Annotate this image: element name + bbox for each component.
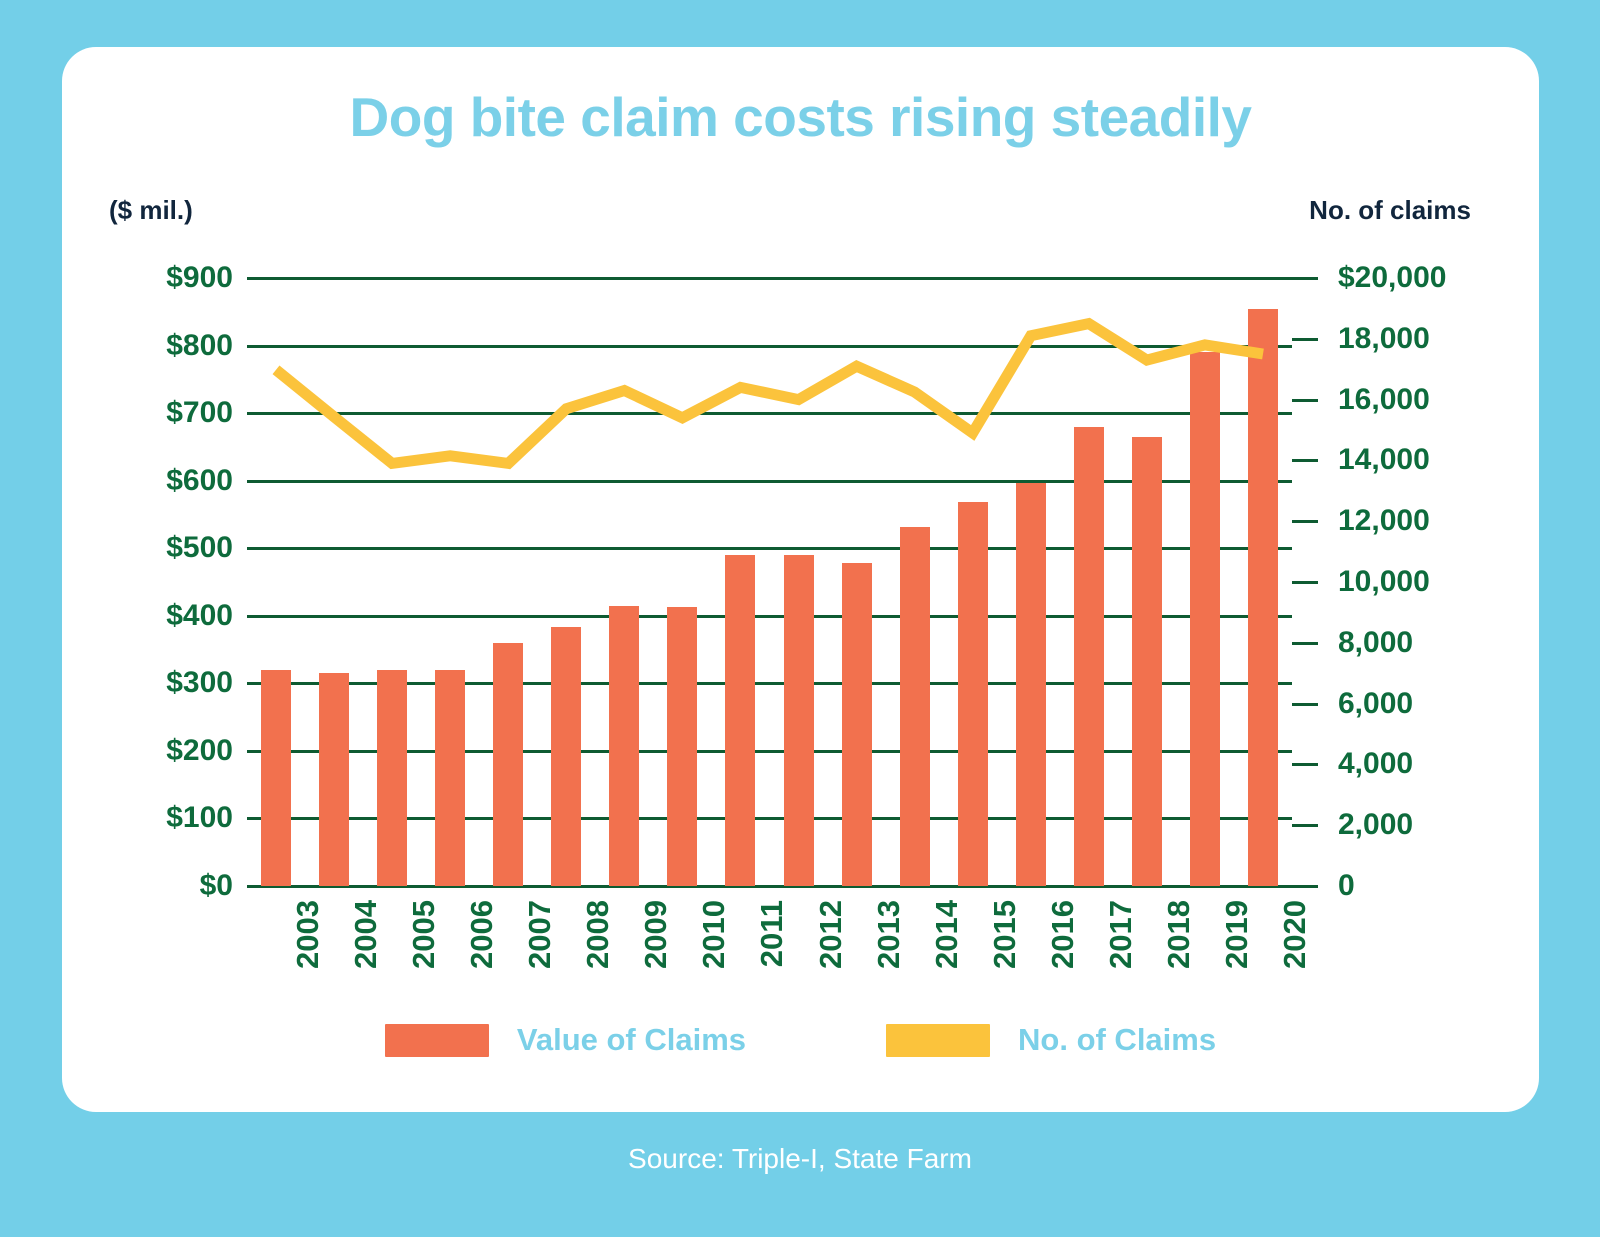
left-axis-caption: ($ mil.) (109, 195, 193, 226)
right-axis-tick-mark (1292, 520, 1318, 523)
x-axis-tick-label: 2011 (754, 900, 790, 967)
left-axis-tick-label: $600 (166, 464, 233, 498)
right-axis-tick-mark (1292, 399, 1318, 402)
right-axis-tick-mark (1292, 763, 1318, 766)
page-title: Dog bite claim costs rising steadily (62, 85, 1539, 149)
x-axis-tick-label: 2018 (1161, 900, 1197, 969)
right-axis-tick-mark (1292, 703, 1318, 706)
x-axis-tick-label: 2005 (406, 900, 442, 969)
right-axis-tick-mark (1292, 277, 1318, 280)
right-axis-tick-label: 6,000 (1338, 687, 1413, 721)
left-axis-tick-label: $800 (166, 329, 233, 363)
bar-swatch-icon (385, 1024, 489, 1057)
legend-label: No. of Claims (1018, 1022, 1216, 1058)
left-axis-tick-label: $0 (200, 869, 233, 903)
right-axis-tick-label: 4,000 (1338, 747, 1413, 781)
left-axis-tick-label: $200 (166, 734, 233, 768)
x-axis-tick-label: 2010 (696, 900, 732, 969)
x-axis-tick-label: 2020 (1277, 900, 1313, 969)
legend-label: Value of Claims (517, 1022, 746, 1058)
x-axis-tick-label: 2013 (871, 900, 907, 969)
x-axis-tick-label: 2015 (987, 900, 1023, 969)
x-axis-tick-label: 2009 (638, 900, 674, 969)
right-axis-tick-mark (1292, 338, 1318, 341)
left-axis-tick-label: $300 (166, 666, 233, 700)
right-axis-tick-label: 0 (1338, 869, 1355, 903)
right-axis-tick-mark (1292, 642, 1318, 645)
right-axis-tick-label: 8,000 (1338, 626, 1413, 660)
x-axis-tick-label: 2003 (290, 900, 326, 969)
right-axis-tick-mark (1292, 824, 1318, 827)
x-axis-tick-label: 2017 (1103, 900, 1139, 969)
left-axis-tick-label: $100 (166, 801, 233, 835)
line-swatch-icon (886, 1024, 990, 1057)
chart-card: Dog bite claim costs rising steadily ($ … (62, 47, 1539, 1112)
chart-page: Dog bite claim costs rising steadily ($ … (0, 0, 1600, 1237)
line-path (276, 324, 1263, 464)
right-axis-tick-mark (1292, 581, 1318, 584)
line-series-no-of-claims (247, 278, 1292, 886)
right-axis-tick-label: 2,000 (1338, 808, 1413, 842)
right-axis-caption: No. of claims (1309, 195, 1471, 226)
right-axis-tick-label: 10,000 (1338, 565, 1430, 599)
left-axis-tick-label: $500 (166, 531, 233, 565)
right-axis-tick-label: $20,000 (1338, 261, 1446, 295)
right-axis-tick-mark (1292, 885, 1318, 888)
chart-legend: Value of ClaimsNo. of Claims (62, 1022, 1539, 1058)
x-axis-tick-label: 2008 (580, 900, 616, 969)
x-axis-tick-label: 2007 (522, 900, 558, 969)
plot-area: $0$100$200$300$400$500$600$700$800$900 0… (247, 278, 1292, 886)
right-axis-tick-label: 16,000 (1338, 383, 1430, 417)
right-axis-tick-label: 18,000 (1338, 322, 1430, 356)
right-axis-tick-label: 14,000 (1338, 443, 1430, 477)
right-axis-tick-label: 12,000 (1338, 504, 1430, 538)
source-note: Source: Triple-I, State Farm (0, 1143, 1600, 1175)
x-axis-tick-label: 2014 (929, 900, 965, 969)
x-axis-tick-label: 2006 (464, 900, 500, 969)
x-axis-tick-label: 2004 (348, 900, 384, 969)
x-axis-tick-label: 2016 (1045, 900, 1081, 969)
left-axis-tick-label: $900 (166, 261, 233, 295)
x-axis-tick-label: 2019 (1219, 900, 1255, 969)
legend-item[interactable]: No. of Claims (886, 1022, 1216, 1058)
x-axis-tick-label: 2012 (813, 900, 849, 969)
right-axis-tick-mark (1292, 459, 1318, 462)
left-axis-tick-label: $700 (166, 396, 233, 430)
left-axis-tick-label: $400 (166, 599, 233, 633)
legend-item[interactable]: Value of Claims (385, 1022, 746, 1058)
